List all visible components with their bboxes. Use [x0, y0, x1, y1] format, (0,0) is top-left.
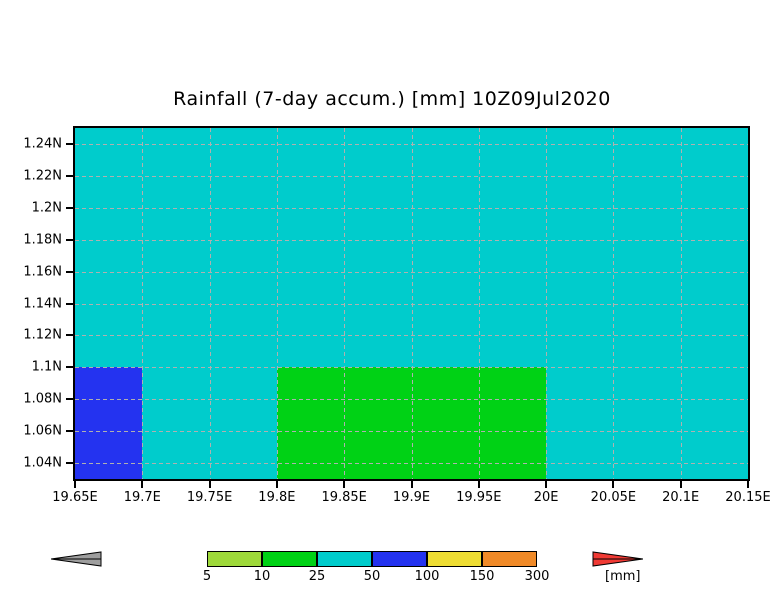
colorbar-band: [207, 551, 262, 567]
gridline-horizontal: [75, 304, 748, 305]
y-axis-tick-mark: [66, 271, 73, 273]
x-axis-tick-label: 19.65E: [52, 490, 97, 505]
colorbar-tick-label: 150: [470, 569, 495, 584]
x-axis-tick-mark: [545, 481, 547, 488]
gridline-horizontal: [75, 431, 748, 432]
gridline-horizontal: [75, 399, 748, 400]
colorbar-under-arrow: [51, 551, 157, 567]
colorbar-band: [482, 551, 537, 567]
y-axis-tick-label: 1.22N: [23, 168, 62, 183]
y-axis-tick-label: 1.06N: [23, 424, 62, 439]
y-axis-tick-mark: [66, 207, 73, 209]
gridline-horizontal: [75, 335, 748, 336]
colorbar-unit-label: [mm]: [605, 569, 640, 584]
colorbar-tick-label: 25: [309, 569, 326, 584]
colorbar-legend: 5102550100150300 [mm]: [156, 545, 636, 590]
y-axis-tick-label: 1.16N: [23, 264, 62, 279]
x-axis-tick-label: 19.8E: [258, 490, 295, 505]
gridline-horizontal: [75, 144, 748, 145]
y-axis-tick-label: 1.12N: [23, 328, 62, 343]
page-title: Rainfall (7-day accum.) [mm] 10Z09Jul202…: [0, 88, 784, 110]
x-axis-tick-mark: [747, 481, 749, 488]
x-axis-tick-mark: [276, 481, 278, 488]
colorbar-tick-label: 5: [203, 569, 211, 584]
x-axis-tick-mark: [74, 481, 76, 488]
x-axis-tick-mark: [343, 481, 345, 488]
x-axis-tick-label: 20.05E: [591, 490, 636, 505]
y-axis-tick-mark: [66, 462, 73, 464]
x-axis-tick-label: 20.1E: [662, 490, 699, 505]
x-axis-tick-mark: [141, 481, 143, 488]
x-axis-tick-label: 19.75E: [187, 490, 232, 505]
y-axis-tick-mark: [66, 239, 73, 241]
y-axis-tick-label: 1.24N: [23, 136, 62, 151]
colorbar-tick-label: 50: [364, 569, 381, 584]
colorbar-over-arrow: [537, 551, 643, 567]
colorbar-tick-label: 100: [415, 569, 440, 584]
gridline-horizontal: [75, 367, 748, 368]
colorbar-tick-label: 300: [525, 569, 550, 584]
y-axis-tick-mark: [66, 430, 73, 432]
y-axis-labels: 1.24N1.22N1.2N1.18N1.16N1.14N1.12N1.1N1.…: [0, 0, 62, 612]
y-axis-tick-label: 1.2N: [32, 200, 62, 215]
y-axis-tick-label: 1.1N: [32, 360, 62, 375]
y-axis-tick-mark: [66, 366, 73, 368]
y-axis-tick-mark: [66, 398, 73, 400]
colorbar-band: [317, 551, 372, 567]
y-axis-tick-mark: [66, 334, 73, 336]
x-axis-tick-mark: [411, 481, 413, 488]
gridline-horizontal: [75, 208, 748, 209]
gridline-horizontal: [75, 176, 748, 177]
gridline-horizontal: [75, 240, 748, 241]
x-axis-tick-label: 19.7E: [124, 490, 161, 505]
chart-canvas: Rainfall (7-day accum.) [mm] 10Z09Jul202…: [0, 0, 784, 612]
x-axis-tick-label: 19.85E: [321, 490, 366, 505]
x-axis-tick-mark: [612, 481, 614, 488]
colorbar-band: [262, 551, 317, 567]
y-axis-tick-mark: [66, 143, 73, 145]
x-axis-tick-mark: [209, 481, 211, 488]
x-axis-tick-mark: [478, 481, 480, 488]
gridline-horizontal: [75, 272, 748, 273]
y-axis-tick-label: 1.14N: [23, 296, 62, 311]
colorbar-tick-label: 10: [254, 569, 271, 584]
y-axis-tick-mark: [66, 175, 73, 177]
x-axis-tick-label: 19.9E: [393, 490, 430, 505]
x-axis-tick-label: 19.95E: [456, 490, 501, 505]
y-axis-tick-label: 1.18N: [23, 232, 62, 247]
x-axis-tick-mark: [680, 481, 682, 488]
y-axis-tick-mark: [66, 303, 73, 305]
plot-area: [73, 126, 750, 481]
colorbar-band: [372, 551, 427, 567]
colorbar-band: [427, 551, 482, 567]
y-axis-tick-label: 1.04N: [23, 456, 62, 471]
gridline-horizontal: [75, 463, 748, 464]
y-axis-tick-label: 1.08N: [23, 392, 62, 407]
x-axis-tick-label: 20.15E: [725, 490, 770, 505]
x-axis-tick-label: 20E: [534, 490, 559, 505]
